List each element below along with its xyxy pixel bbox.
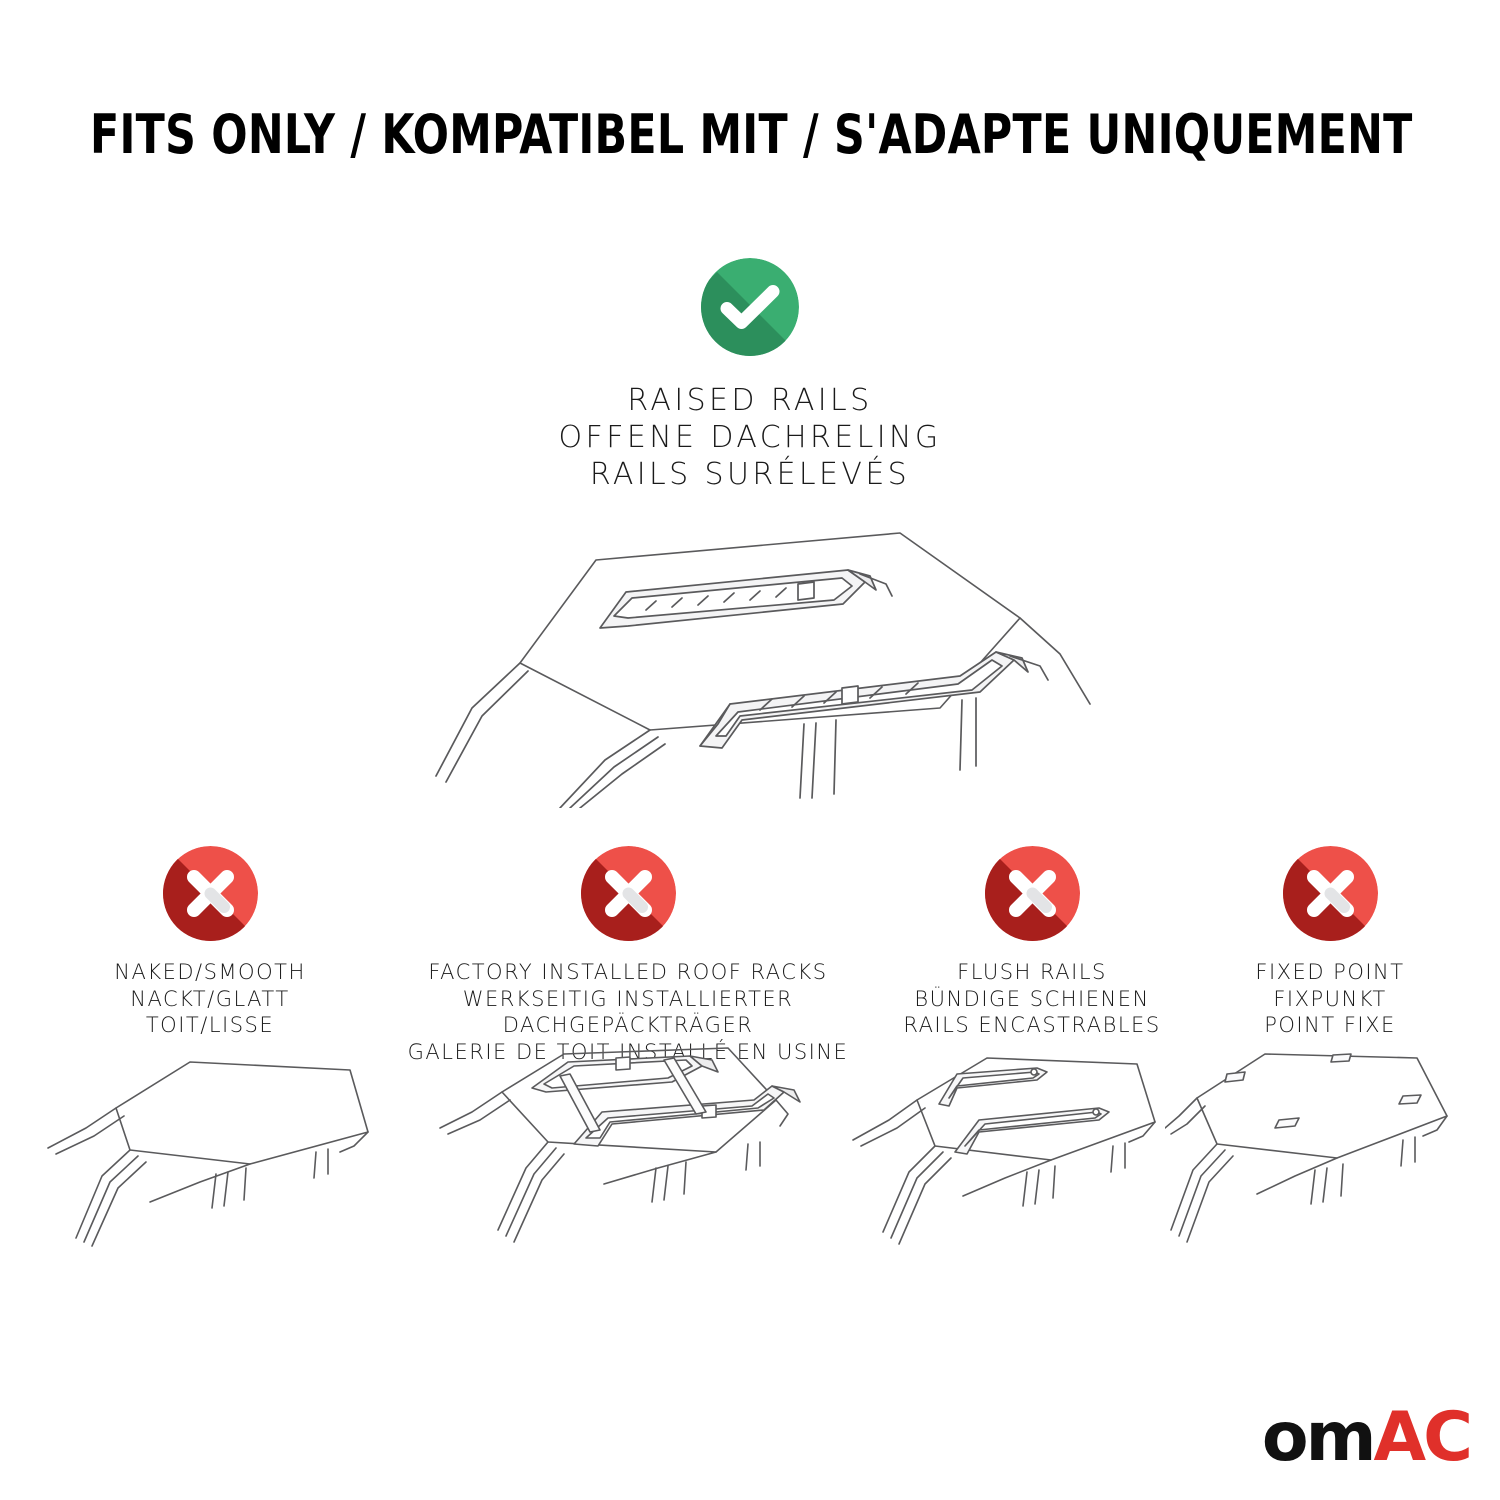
incompatible-label-2: FLUSH RAILS BÜNDIGE SCHIENEN RAILS ENCAS… — [842, 959, 1222, 1039]
check-circle-icon-wrap — [701, 258, 799, 356]
cross-circle-icon — [581, 846, 676, 941]
incompatible-item-naked-smooth: NAKED/SMOOTH NACKT/GLATT TOIT/LISSE — [30, 846, 390, 1039]
roof-factory-racks-illustration — [428, 1042, 828, 1274]
cross-circle-icon-wrap-0 — [163, 846, 258, 941]
compatible-label-line-en: RAISED RAILS — [0, 382, 1500, 419]
cross-mark-glyph — [1283, 846, 1378, 941]
compatible-label: RAISED RAILS OFFENE DACHRELING RAILS SUR… — [0, 382, 1500, 493]
label-line-de: BÜNDIGE SCHIENEN — [842, 986, 1222, 1013]
label-line-en: FLUSH RAILS — [842, 959, 1222, 986]
compatible-label-line-de: OFFENE DACHRELING — [0, 419, 1500, 456]
compatible-section: RAISED RAILS OFFENE DACHRELING RAILS SUR… — [0, 258, 1500, 493]
incompatible-item-fixed-point: FIXED POINT FIXPUNKT POINT FIXE — [1170, 846, 1490, 1039]
roof-fixed-point-illustration — [1165, 1042, 1495, 1272]
logo-text-om: om — [1262, 1404, 1374, 1472]
incompatible-item-flush-rails: FLUSH RAILS BÜNDIGE SCHIENEN RAILS ENCAS… — [842, 846, 1222, 1039]
cross-mark-glyph — [581, 846, 676, 941]
omac-logo: om AC — [1262, 1404, 1470, 1472]
incompatible-label-0: NAKED/SMOOTH NACKT/GLATT TOIT/LISSE — [30, 959, 390, 1039]
check-circle-icon — [701, 258, 799, 356]
cross-circle-icon — [1283, 846, 1378, 941]
label-line-fr: RAILS ENCASTRABLES — [842, 1012, 1222, 1039]
label-line-en: FACTORY INSTALLED ROOF RACKS — [398, 959, 858, 986]
cross-mark-glyph — [985, 846, 1080, 941]
label-line-fr: POINT FIXE — [1170, 1012, 1490, 1039]
roof-naked-smooth-illustration — [20, 1042, 400, 1272]
label-line-fr: TOIT/LISSE — [30, 1012, 390, 1039]
incompatible-section: NAKED/SMOOTH NACKT/GLATT TOIT/LISSE — [0, 846, 1500, 1486]
fitment-infographic: FITS ONLY / KOMPATIBEL MIT / S'ADAPTE UN… — [0, 0, 1500, 1500]
label-line-en: NAKED/SMOOTH — [30, 959, 390, 986]
label-line-de-1: WERKSEITIG INSTALLIERTER — [398, 986, 858, 1013]
label-line-de: NACKT/GLATT — [30, 986, 390, 1013]
check-mark-glyph — [701, 258, 799, 356]
compatible-label-line-fr: RAILS SURÉLEVÉS — [0, 456, 1500, 493]
label-line-en: FIXED POINT — [1170, 959, 1490, 986]
incompatible-label-3: FIXED POINT FIXPUNKT POINT FIXE — [1170, 959, 1490, 1039]
label-line-de: FIXPUNKT — [1170, 986, 1490, 1013]
roof-with-raised-rails-illustration — [400, 508, 1100, 808]
cross-circle-icon-wrap-3 — [1283, 846, 1378, 941]
cross-circle-icon-wrap-1 — [581, 846, 676, 941]
cross-circle-icon — [985, 846, 1080, 941]
label-line-de-2: DACHGEPÄCKTRÄGER — [398, 1012, 858, 1039]
logo-text-ac: AC — [1373, 1404, 1470, 1472]
incompatible-item-factory-racks: FACTORY INSTALLED ROOF RACKS WERKSEITIG … — [398, 846, 858, 1065]
cross-circle-icon-wrap-2 — [985, 846, 1080, 941]
page-title: FITS ONLY / KOMPATIBEL MIT / S'ADAPTE UN… — [90, 106, 1410, 164]
cross-mark-glyph — [163, 846, 258, 941]
cross-circle-icon — [163, 846, 258, 941]
